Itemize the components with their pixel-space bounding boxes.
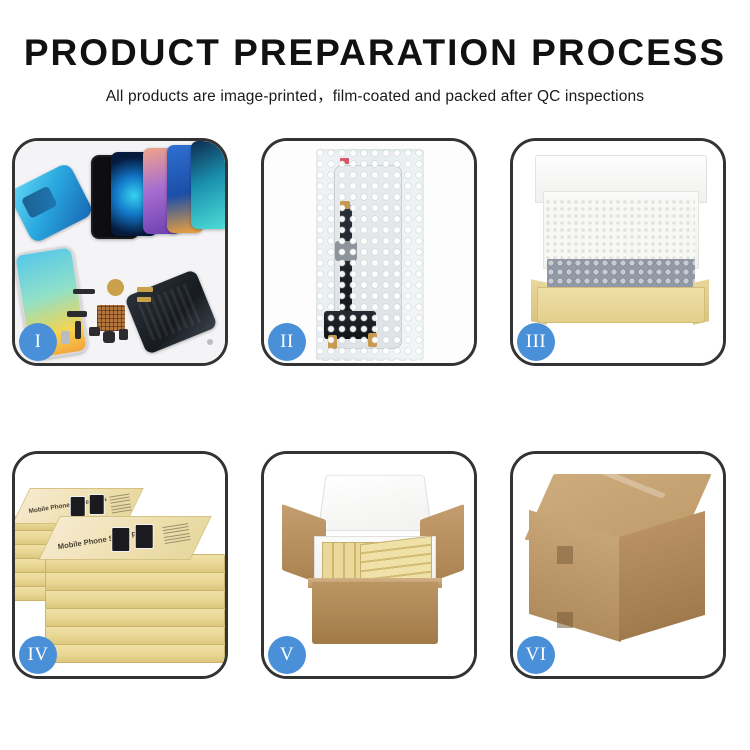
step-badge-3: III: [517, 323, 555, 361]
screw-set: [207, 339, 213, 345]
process-step-panel-5: V: [261, 451, 477, 679]
charging-port: [119, 329, 128, 340]
stacked-box: [45, 608, 225, 627]
process-step-panel-2: II: [261, 138, 477, 366]
page-subtitle: All products are image-printed，film-coat…: [0, 84, 750, 106]
box-spec-lines: [162, 523, 191, 546]
bubble-wrap-bag: [316, 149, 424, 361]
stacked-box: [45, 572, 225, 591]
box-artwork-phone: [89, 494, 105, 515]
antenna-flex: [67, 311, 87, 317]
retail-box-lid: Mobile Phone Spare Parts: [38, 516, 211, 560]
bubble-texture: [316, 149, 424, 361]
process-step-panel-6: VI: [510, 451, 726, 679]
process-step-panel-1: I: [12, 138, 228, 366]
speaker-box: [103, 331, 115, 343]
speaker-module: [73, 289, 95, 294]
carton-front-wall: [312, 582, 438, 644]
stacked-box: [45, 626, 225, 645]
stacked-box: [45, 590, 225, 609]
step-badge-4: IV: [19, 636, 57, 674]
sim-tray: [61, 331, 70, 344]
camera-module: [89, 327, 100, 336]
header: PRODUCT PREPARATION PROCESS All products…: [0, 0, 750, 106]
step-badge-1: I: [19, 323, 57, 361]
process-steps-grid: I II: [12, 138, 738, 679]
power-flex-cable: [137, 287, 153, 292]
carton-tape-upper: [557, 546, 573, 564]
process-step-panel-4: Mobile Phone Spare Parts: [12, 451, 228, 679]
opened-phone-chassis: [124, 269, 218, 355]
box-artwork-phone: [135, 524, 154, 549]
vibration-motor: [107, 279, 124, 296]
box-artwork-phone: [111, 527, 130, 552]
side-bracket: [75, 321, 81, 339]
page-title: PRODUCT PREPARATION PROCESS: [0, 34, 750, 73]
box-front-panel: [537, 287, 705, 323]
step-badge-2: II: [268, 323, 306, 361]
blue-back-cover: [15, 162, 94, 245]
step-badge-6: VI: [517, 636, 555, 674]
box-spec-lines: [109, 494, 132, 516]
box-artwork-phone: [70, 496, 86, 517]
white-foam-sheet: [545, 199, 695, 261]
foam-lid: [318, 475, 432, 531]
stacked-box: [45, 644, 225, 663]
carton-tape-lower: [557, 612, 573, 628]
copper-shield-mesh: [97, 305, 125, 331]
step-badge-5: V: [268, 636, 306, 674]
teal-swirl-phone: [191, 141, 225, 229]
volume-flex-cable: [137, 297, 151, 302]
process-step-panel-3: III: [510, 138, 726, 366]
product-preparation-infographic: PRODUCT PREPARATION PROCESS All products…: [0, 0, 750, 750]
